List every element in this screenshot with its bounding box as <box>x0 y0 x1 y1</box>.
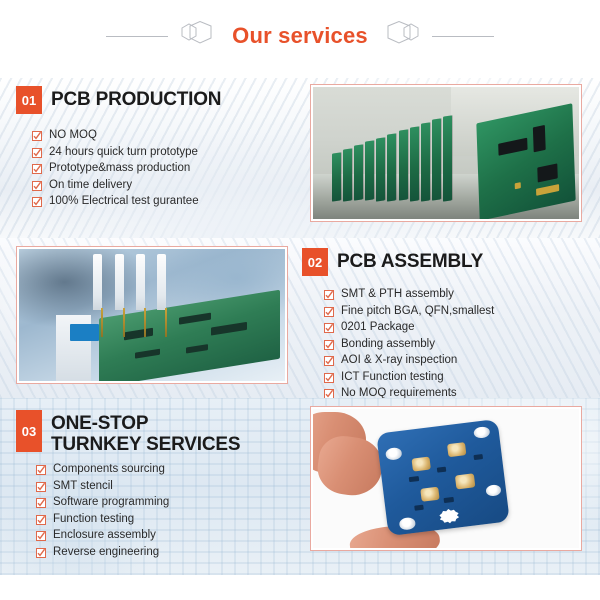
list-item-label: AOI & X-ray inspection <box>341 352 457 369</box>
pcb-rack-photo-image <box>313 87 579 219</box>
checkbox-checked-icon <box>32 130 42 140</box>
list-item-label: Components sourcing <box>53 461 165 478</box>
list-item: Components sourcing <box>36 461 310 478</box>
list-item: Reverse engineering <box>36 544 310 561</box>
section-3-photo <box>310 406 582 551</box>
checkbox-checked-icon <box>32 180 42 190</box>
section-one-stop-turnkey-services: 03 ONE-STOP TURNKEY SERVICES Components … <box>0 398 600 575</box>
section-1-number-badge: 01 <box>16 86 42 114</box>
list-item: Prototype&mass production <box>32 160 310 177</box>
list-item-label: No MOQ requirements <box>341 385 457 398</box>
checkbox-checked-icon <box>36 530 46 540</box>
section-3-number-badge: 03 <box>16 410 42 452</box>
list-item: 24 hours quick turn prototype <box>32 144 310 161</box>
section-1-text-column: 01 PCB PRODUCTION NO MOQ 24 hours <box>0 78 310 210</box>
list-item-label: Function testing <box>53 511 134 528</box>
list-item-label: 100% Electrical test gurantee <box>49 193 199 210</box>
section-2-feature-list: SMT & PTH assembly Fine pitch BGA, QFN,s… <box>302 286 584 398</box>
checkbox-checked-icon <box>324 388 334 398</box>
hexagon-pair-icon-left <box>168 21 216 51</box>
checkbox-checked-icon <box>324 372 334 382</box>
list-item-label: Enclosure assembly <box>53 527 156 544</box>
list-item: No MOQ requirements <box>324 385 584 398</box>
checkbox-checked-icon <box>32 196 42 206</box>
section-2-text-column: 02 PCB ASSEMBLY SMT & PTH assembly <box>288 238 584 398</box>
hand-holding-pcb-photo-image <box>313 409 579 548</box>
list-item-label: Prototype&mass production <box>49 160 190 177</box>
list-item-label: ICT Function testing <box>341 369 444 386</box>
list-item-label: Reverse engineering <box>53 544 159 561</box>
list-item: AOI & X-ray inspection <box>324 352 584 369</box>
checkbox-checked-icon <box>324 306 334 316</box>
header-divider-line-left <box>106 36 168 37</box>
section-pcb-assembly: 02 PCB ASSEMBLY SMT & PTH assembly <box>0 238 600 398</box>
checkbox-checked-icon <box>36 547 46 557</box>
section-2-heading-row: 02 PCB ASSEMBLY <box>302 248 584 276</box>
list-item: SMT stencil <box>36 478 310 495</box>
checkbox-checked-icon <box>324 322 334 332</box>
section-3-heading-row: 03 ONE-STOP TURNKEY SERVICES <box>16 410 310 455</box>
list-item-label: 24 hours quick turn prototype <box>49 144 198 161</box>
checkbox-checked-icon <box>36 514 46 524</box>
list-item-label: Bonding assembly <box>341 336 435 353</box>
checkbox-checked-icon <box>36 464 46 474</box>
list-item: On time delivery <box>32 177 310 194</box>
list-item-label: On time delivery <box>49 177 132 194</box>
header-divider-line-right <box>432 36 494 37</box>
list-item: Function testing <box>36 511 310 528</box>
list-item-label: Fine pitch BGA, QFN,smallest <box>341 303 494 320</box>
footer-whitespace <box>0 575 600 600</box>
list-item-label: SMT stencil <box>53 478 113 495</box>
checkbox-checked-icon <box>324 289 334 299</box>
checkbox-checked-icon <box>32 147 42 157</box>
list-item-label: NO MOQ <box>49 127 97 144</box>
list-item: Software programming <box>36 494 310 511</box>
section-1-feature-list: NO MOQ 24 hours quick turn prototype Pro… <box>16 127 310 210</box>
section-pcb-production: 01 PCB PRODUCTION NO MOQ 24 hours <box>0 78 600 238</box>
list-item: 100% Electrical test gurantee <box>32 193 310 210</box>
section-2-photo <box>16 246 288 384</box>
section-3-feature-list: Components sourcing SMT stencil Software… <box>16 461 310 560</box>
checkbox-checked-icon <box>324 355 334 365</box>
checkbox-checked-icon <box>324 339 334 349</box>
smt-machine-photo-image <box>19 249 285 381</box>
list-item: ICT Function testing <box>324 369 584 386</box>
list-item: 0201 Package <box>324 319 584 336</box>
checkbox-checked-icon <box>32 163 42 173</box>
hexagon-pair-icon-right <box>384 21 432 51</box>
list-item: Enclosure assembly <box>36 527 310 544</box>
section-3-text-column: 03 ONE-STOP TURNKEY SERVICES Components … <box>0 398 310 560</box>
section-1-photo <box>310 84 582 222</box>
list-item-label: SMT & PTH assembly <box>341 286 454 303</box>
page-title: Our services <box>216 23 384 49</box>
list-item: SMT & PTH assembly <box>324 286 584 303</box>
header-inner: Our services <box>106 21 494 51</box>
list-item: Fine pitch BGA, QFN,smallest <box>324 303 584 320</box>
list-item-label: 0201 Package <box>341 319 415 336</box>
list-item: NO MOQ <box>32 127 310 144</box>
services-page: Our services 01 PCB PRODUCTION <box>0 0 600 600</box>
section-2-title: PCB ASSEMBLY <box>337 248 483 272</box>
checkbox-checked-icon <box>36 497 46 507</box>
list-item: Bonding assembly <box>324 336 584 353</box>
checkbox-checked-icon <box>36 481 46 491</box>
list-item-label: Software programming <box>53 494 169 511</box>
section-1-heading-row: 01 PCB PRODUCTION <box>16 86 310 114</box>
section-2-number-badge: 02 <box>302 248 328 276</box>
section-1-title: PCB PRODUCTION <box>51 86 221 110</box>
page-header: Our services <box>0 0 600 78</box>
section-3-title: ONE-STOP TURNKEY SERVICES <box>51 410 240 455</box>
